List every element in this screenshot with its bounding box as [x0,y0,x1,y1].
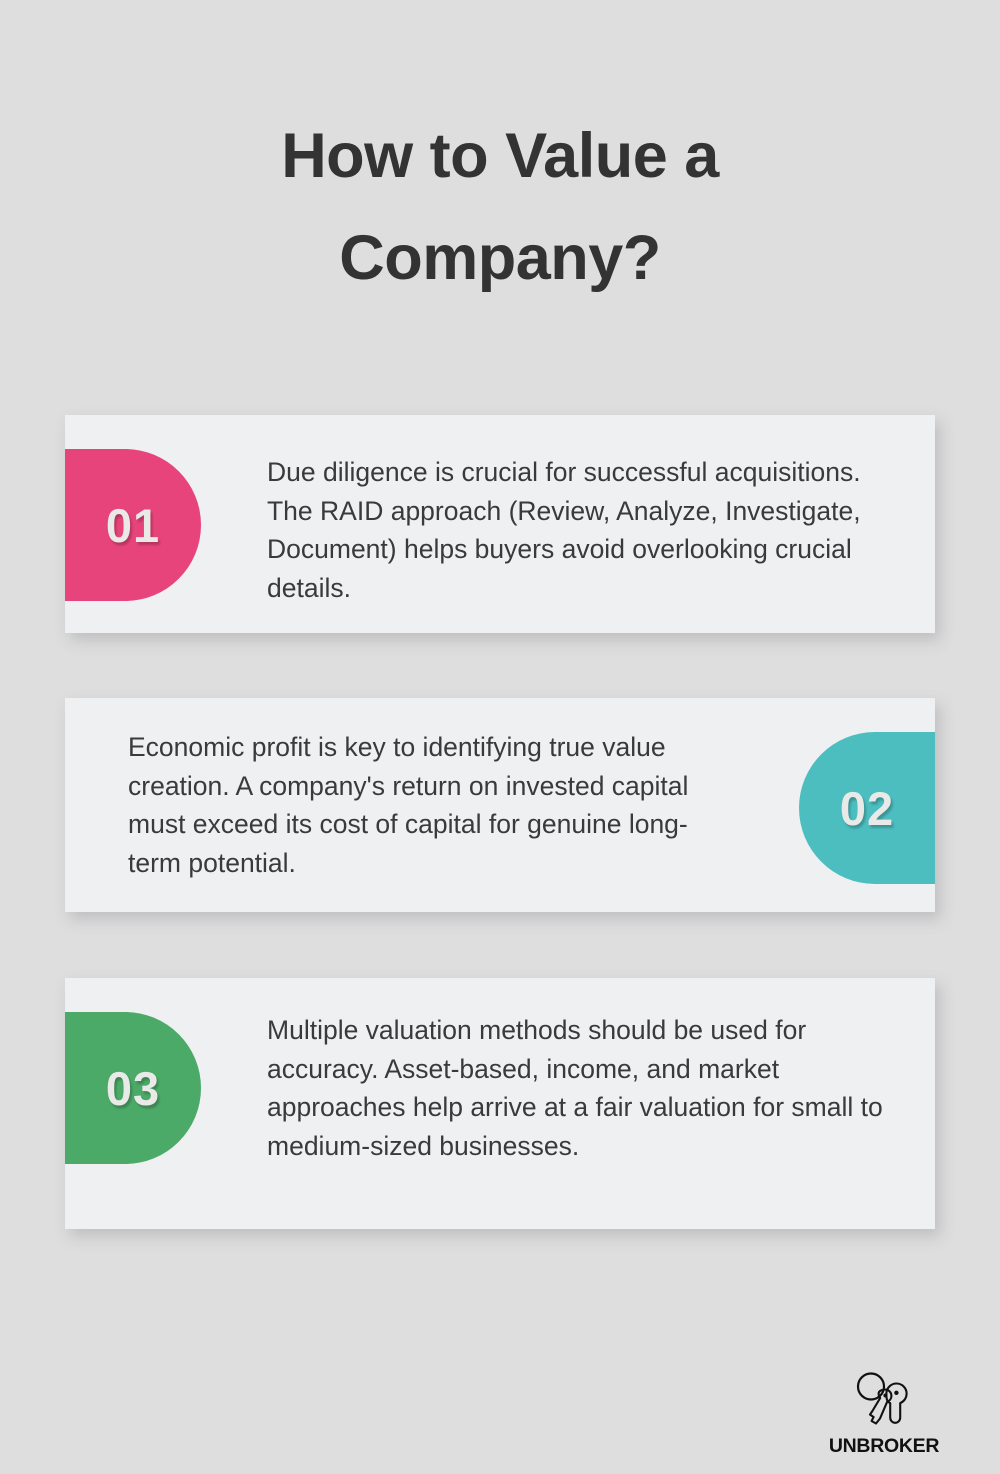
card-body-text-1: Due diligence is crucial for successful … [267,453,895,608]
brand-wordmark: UNBROKER [829,1435,939,1458]
step-number-badge-1: 01 [65,449,201,601]
card-body-text-3: Multiple valuation methods should be use… [267,1011,887,1166]
step-number-3: 03 [106,1061,160,1116]
page-title: How to Value a Company? [0,105,1000,309]
brand-logo: UNBROKER [824,1371,944,1458]
step-number-badge-3: 03 [65,1012,201,1164]
info-card-2: 02 Economic profit is key to identifying… [65,698,935,912]
info-card-3: 03 Multiple valuation methods should be … [65,978,935,1229]
step-number-2: 02 [840,781,894,836]
step-number-badge-2: 02 [799,732,935,884]
step-number-1: 01 [106,498,160,553]
info-card-1: 01 Due diligence is crucial for successf… [65,415,935,633]
card-body-text-2: Economic profit is key to identifying tr… [128,728,728,883]
keys-icon [846,1371,922,1433]
